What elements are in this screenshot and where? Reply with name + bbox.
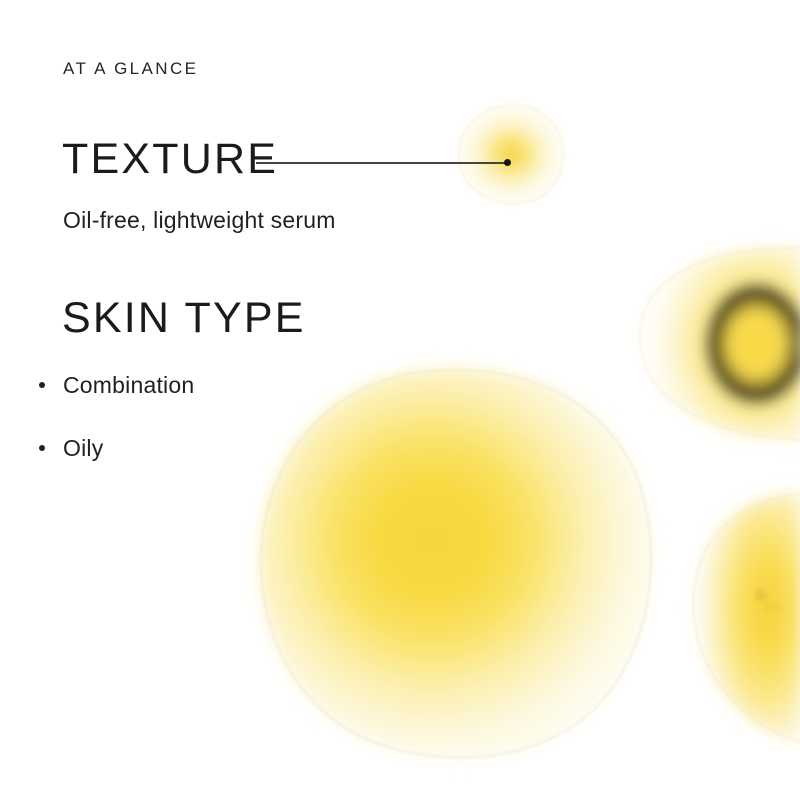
list-item-label: Combination [63,372,194,398]
section-heading-texture: TEXTURE [62,138,278,181]
leader-endpoint-dot [504,159,511,166]
list-item-label: Oily [63,435,103,461]
list-item: Oily [38,434,194,463]
bullet-dot-icon [39,382,45,388]
content-layer: AT A GLANCE TEXTURE Oil-free, lightweigh… [0,0,800,800]
leader-line [256,162,509,164]
texture-description: Oil-free, lightweight serum [63,206,336,235]
bullet-dot-icon [39,445,45,451]
list-item: Combination [38,371,194,400]
skin-type-list: Combination Oily [38,371,194,497]
eyebrow-label: AT A GLANCE [63,60,198,77]
section-heading-skin-type: SKIN TYPE [62,297,306,340]
serum-info-card: AT A GLANCE TEXTURE Oil-free, lightweigh… [0,0,800,800]
